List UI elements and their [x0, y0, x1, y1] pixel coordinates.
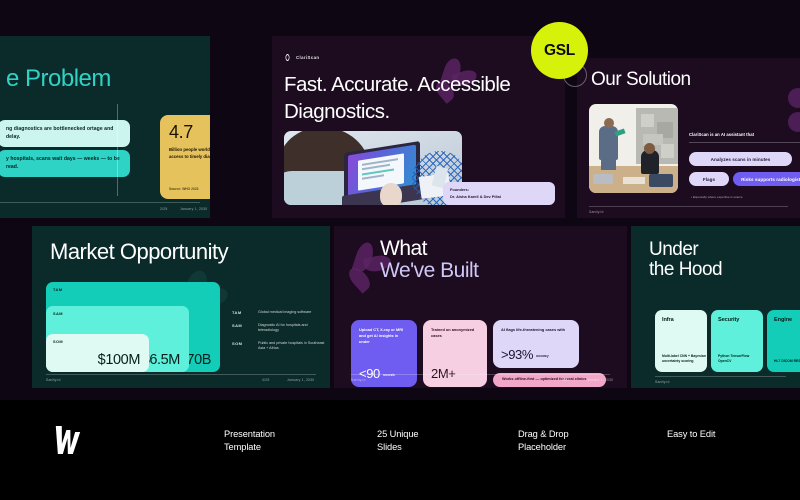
solution-pill-1[interactable]: Analyzes scans in minutes	[689, 152, 792, 166]
slide-page-number: 2/25	[160, 207, 167, 211]
column-body: Python TensorFlow OpenCV	[718, 354, 763, 365]
column-body: Multi-label CNN + Bayesian uncertainty s…	[662, 354, 707, 365]
stat-source: Source: WHO 2023	[169, 187, 199, 191]
footer-rule	[655, 376, 786, 377]
decor-dot	[788, 112, 800, 132]
founders-names: Dr. Aisha Karell & Dev Pillai	[450, 194, 548, 200]
stat-value: 4.7	[169, 123, 210, 141]
problem-point-1: ng diagnostics are bottlenecked ortage a…	[0, 120, 130, 147]
promo-line-1: 25 Unique	[377, 428, 419, 441]
hero-photo-laptop	[284, 131, 462, 205]
divider-vertical	[117, 104, 118, 196]
stat-caption: Billion people worldwide lack access to …	[169, 147, 210, 160]
legend-row: SOM Public and private hospitals in Sout…	[232, 341, 327, 352]
hood-column-infra: Infra Multi-label CNN + Bayesian uncerta…	[655, 310, 707, 372]
promo-item-1: Presentation Template	[224, 428, 275, 455]
column-body: HL7 DICOM REST API	[774, 359, 800, 365]
built-card-accuracy: AI flags life-threatening cases with >93…	[493, 320, 579, 368]
legend-key: SOM	[232, 341, 249, 352]
title-line-2: We've Built	[380, 260, 479, 282]
slide-brand: Sanity.id	[655, 380, 670, 384]
slide-market-opportunity[interactable]: Market Opportunity TAM $70B SAM $6.5M SO…	[32, 226, 330, 388]
card-text: Upload CT, X-ray or MRI and get AI insig…	[359, 327, 409, 345]
slide-date: January 1, 2030	[287, 378, 314, 382]
template-showcase: e Problem ng diagnostics are bottlenecke…	[0, 0, 800, 500]
slide-date: January 1, 2030	[586, 378, 613, 382]
card-text: AI flags life-threatening cases with	[501, 327, 571, 333]
promo-line-1: Drag & Drop	[518, 428, 569, 441]
gsl-badge[interactable]: GSL	[531, 22, 588, 79]
solution-pill-3[interactable]: Risks supports radiologists	[733, 172, 800, 186]
solution-lead-text: ClariScan is an AI assistant that	[689, 132, 754, 137]
brand-mark-icon	[52, 424, 88, 456]
legend-key: TAM	[232, 310, 249, 316]
stat-card-problem: 4.7 Billion people worldwide lack access…	[160, 115, 210, 199]
hood-column-engine: Engine HL7 DICOM REST API	[767, 310, 800, 372]
tier-value: $100M	[98, 352, 140, 368]
legend-desc: Global medical imaging software	[258, 310, 311, 316]
divider-horizontal	[689, 142, 800, 143]
footer-rule	[589, 206, 788, 207]
solution-note: • Especially where expertise is scarce	[691, 195, 743, 199]
footer-rule	[0, 202, 200, 203]
promo-line-2: Slides	[377, 441, 419, 454]
slide-brand: Sanity.id	[46, 378, 61, 382]
slide-page-number: 5/25	[562, 378, 569, 382]
promo-line-2: Template	[224, 441, 275, 454]
slide-what-weve-built[interactable]: What We've Built Upload CT, X-ray or MRI…	[334, 226, 627, 388]
promo-line-2: Placeholder	[518, 441, 569, 454]
slide-page-number: 4/25	[262, 378, 269, 382]
slide-brand: Sanity.id	[351, 378, 366, 382]
card-unit: accuracy	[536, 354, 548, 358]
promo-item-4: Easy to Edit	[667, 428, 715, 441]
footer-rule	[351, 374, 610, 375]
hero-headline: Fast. Accurate. Accessible Diagnostics.	[284, 72, 554, 125]
market-legend: TAM Global medical imaging software SAM …	[232, 310, 327, 359]
founders-pill: Founders: Dr. Aisha Karell & Dev Pillai	[443, 182, 555, 205]
tier-label: TAM	[53, 287, 62, 292]
infinity-knot-icon	[284, 54, 291, 61]
brand-name: ClariScan	[296, 55, 319, 60]
slide-brand: Sanity.id	[589, 210, 604, 214]
slide-title-hero[interactable]: ClariScan 2030 Fast. Accurate. Accessibl…	[272, 36, 565, 218]
card-stat: >93%accuracy	[501, 347, 548, 362]
slide-title-problem: e Problem	[6, 66, 111, 91]
slide-the-problem[interactable]: e Problem ng diagnostics are bottlenecke…	[0, 36, 210, 218]
solution-photo-office	[589, 104, 678, 193]
slide-title-built: What We've Built	[380, 238, 479, 282]
title-line-1: What	[380, 238, 479, 260]
slide-our-solution[interactable]: Our Solution ClariScan is an AI assistan…	[577, 58, 800, 218]
column-name: Engine	[774, 317, 800, 323]
column-name: Infra	[662, 317, 700, 323]
promo-line-1: Easy to Edit	[667, 428, 715, 441]
slide-under-the-hood[interactable]: Under the Hood Infra Multi-label CNN + B…	[631, 226, 800, 388]
legend-row: TAM Global medical imaging software	[232, 310, 327, 316]
slide-date: January 1, 2030	[180, 207, 207, 211]
tier-label: SAM	[53, 311, 63, 316]
promo-item-2: 25 Unique Slides	[377, 428, 419, 455]
decor-dot	[788, 88, 800, 108]
slide-title-solution: Our Solution	[591, 70, 691, 90]
legend-desc: Public and private hospitals in Southeas…	[258, 341, 327, 352]
slide-title-hood: Under the Hood	[649, 240, 722, 280]
tam-sam-som-chart: TAM $70B SAM $6.5M SOM $100M	[46, 282, 220, 372]
promo-line-1: Presentation	[224, 428, 275, 441]
card-text: Trained on anonymized cases	[431, 327, 479, 339]
legend-key: SAM	[232, 323, 249, 334]
slide-title-market: Market Opportunity	[50, 240, 228, 263]
solution-pill-2[interactable]: Flags	[689, 172, 729, 186]
brand-logo: ClariScan	[284, 54, 319, 61]
tier-som: SOM $100M	[46, 334, 149, 372]
footer-rule	[46, 374, 316, 375]
column-name: Security	[718, 317, 756, 323]
hood-column-security: Security Python TensorFlow OpenCV	[711, 310, 763, 372]
legend-row: SAM Diagnostic AI for hospitals and tele…	[232, 323, 327, 334]
tier-label: SOM	[53, 339, 63, 344]
built-card-trained: Trained on anonymized cases 2M+	[423, 320, 487, 387]
title-line-1: Under	[649, 240, 722, 260]
gsl-badge-label: GSL	[544, 42, 575, 60]
legend-desc: Diagnostic AI for hospitals and teleradi…	[258, 323, 327, 334]
card-text: Works offline-first — optimized for rura…	[502, 377, 587, 383]
title-line-2: the Hood	[649, 260, 722, 280]
promo-item-3: Drag & Drop Placeholder	[518, 428, 569, 455]
built-card-upload: Upload CT, X-ray or MRI and get AI insig…	[351, 320, 417, 387]
problem-point-2: y hospitals, scans wait days — weeks — t…	[0, 150, 130, 177]
